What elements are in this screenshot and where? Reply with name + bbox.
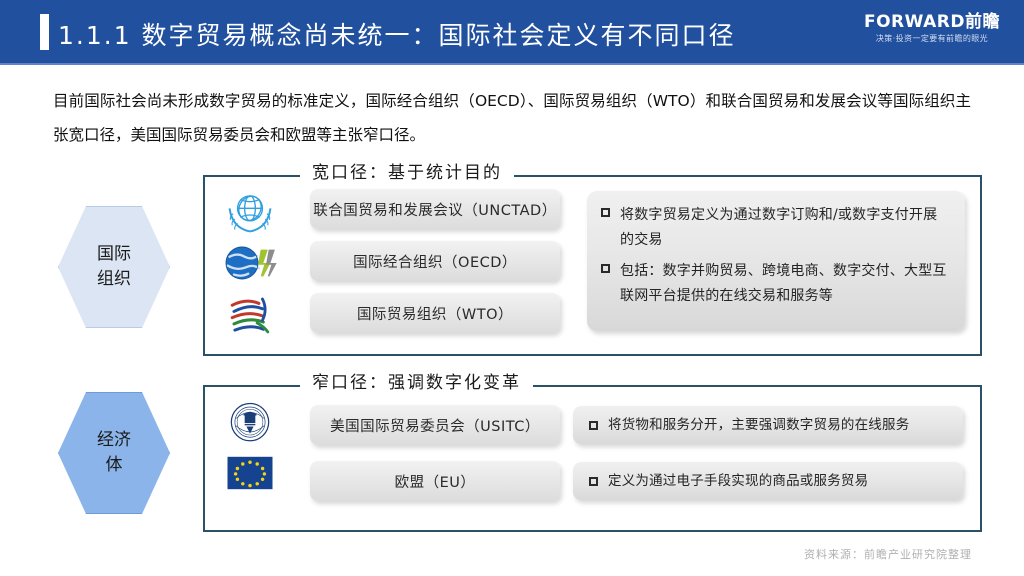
panel-wide-definition: 联合国贸易和发展会议（UNCTAD） 国际经合组织（OECD） 国际贸易组织（W… [203, 175, 982, 356]
bullet-text: 包括：数字并购贸易、跨境电商、数字交付、大型互联网平台提供的在线交易和服务等 [620, 259, 951, 309]
bullet-square-icon [589, 477, 598, 486]
definition-box: 将数字贸易定义为通过数字订购和/或数字支付开展的交易 包括：数字并购贸易、跨境电… [587, 191, 965, 331]
panel-narrow-definition: 美国国际贸易委员会（USITC） 欧盟（EU） 将货物和服务分开，主要强调数字贸… [203, 385, 982, 532]
definition-bar: 将货物和服务分开，主要强调数字贸易的在线服务 [573, 406, 963, 444]
category-hex-label-group: 国际 组织 [59, 207, 169, 327]
bullet-item: 包括：数字并购贸易、跨境电商、数字交付、大型互联网平台提供的在线交易和服务等 [601, 259, 951, 309]
category-hex-label-line2: 体 [106, 453, 123, 478]
panel-title-wide: 宽口径：基于统计目的 [300, 158, 514, 183]
bullet-text: 将货物和服务分开，主要强调数字贸易的在线服务 [608, 416, 909, 434]
org-pill[interactable]: 美国国际贸易委员会（USITC） [310, 405, 560, 445]
org-pill[interactable]: 欧盟（EU） [310, 461, 560, 501]
panel-title-narrow: 窄口径：强调数字化变革 [300, 368, 533, 393]
category-hex-label-line2: 组织 [97, 267, 131, 292]
brand-logo-tagline: 决策·投资一定要有前瞻的眼光 [864, 35, 1000, 43]
org-pill[interactable]: 国际经合组织（OECD） [310, 241, 560, 281]
un-emblem [223, 187, 277, 235]
bullet-text: 将数字贸易定义为通过数字订购和/或数字支付开展的交易 [620, 203, 951, 253]
bullet-square-icon [601, 264, 610, 273]
org-pill[interactable]: 联合国贸易和发展会议（UNCTAD） [310, 189, 560, 229]
bullet-square-icon [589, 421, 598, 430]
bullet-text: 定义为通过电子手段实现的商品或服务贸易 [608, 472, 868, 490]
oecd-emblem [223, 239, 277, 287]
wto-emblem [223, 291, 277, 339]
org-pill[interactable]: 国际贸易组织（WTO） [310, 293, 560, 333]
title-accent-bar [40, 14, 49, 50]
eu-flag-emblem [223, 453, 277, 493]
header-underline [0, 63, 1024, 65]
category-hex-label-line1: 国际 [97, 242, 131, 267]
slide-root: 1.1.1 数字贸易概念尚未统一：国际社会定义有不同口径 FORWARD前瞻 决… [0, 0, 1024, 576]
category-hex-label-group: 经济 体 [59, 393, 169, 513]
category-hex-economies: 经济 体 [58, 392, 170, 514]
brand-logo: FORWARD前瞻 决策·投资一定要有前瞻的眼光 [864, 14, 1000, 43]
bullet-square-icon [601, 208, 610, 217]
category-hex-international-organizations: 国际 组织 [58, 206, 170, 328]
lead-paragraph: 目前国际社会尚未形成数字贸易的标准定义，国际经合组织（OECD）、国际贸易组织（… [53, 84, 971, 152]
page-title: 1.1.1 数字贸易概念尚未统一：国际社会定义有不同口径 [58, 16, 736, 52]
brand-logo-text: FORWARD前瞻 [864, 14, 1000, 31]
source-footer: 资料来源：前瞻产业研究院整理 [804, 546, 972, 562]
emblem-column [205, 177, 297, 354]
category-hex-label-line1: 经济 [97, 428, 131, 453]
definition-bar: 定义为通过电子手段实现的商品或服务贸易 [573, 462, 963, 500]
usitc-emblem [223, 399, 277, 447]
emblem-column [205, 387, 297, 530]
bullet-item: 将数字贸易定义为通过数字订购和/或数字支付开展的交易 [601, 203, 951, 253]
